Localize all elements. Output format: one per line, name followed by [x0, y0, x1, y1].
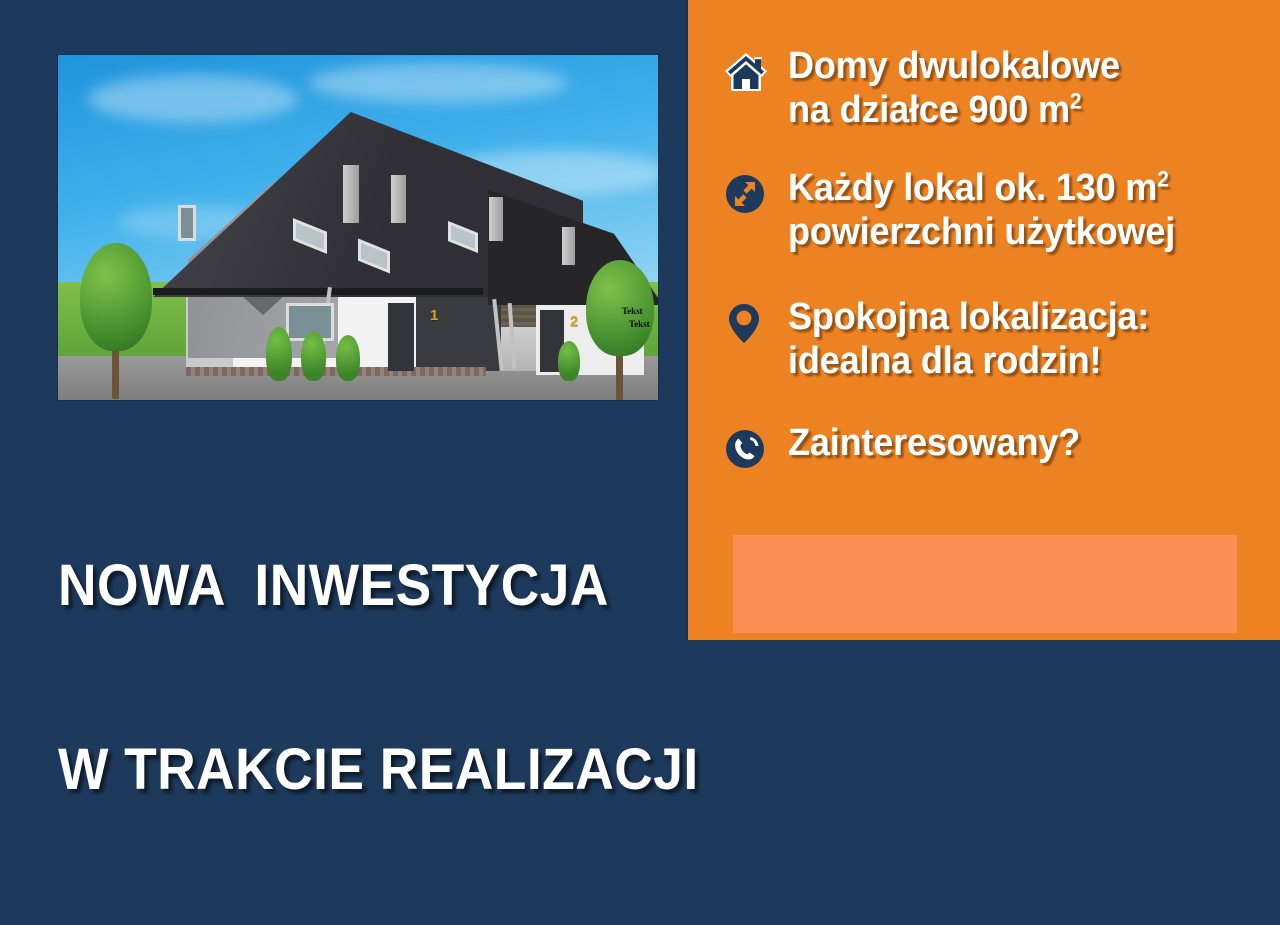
feature-text-homes: Domy dwulokalowe na działce 900 m2	[788, 44, 1238, 133]
chimney	[562, 227, 575, 265]
map-pin-icon	[722, 299, 770, 347]
shrub	[336, 335, 360, 381]
placeholder-note: Tekst Tekst	[622, 305, 650, 331]
gable-window	[178, 205, 196, 241]
placeholder-note-line1: Tekst	[622, 306, 643, 316]
chimney	[489, 197, 503, 241]
tree-crown	[80, 243, 152, 351]
feature-item-location: Spokojna lokalizacja: idealna dla rodzin…	[722, 295, 1262, 417]
feature-line-2: powierzchni użytkowej	[788, 211, 1175, 253]
roof-eave	[153, 288, 483, 295]
feature-text-location: Spokojna lokalizacja: idealna dla rodzin…	[788, 295, 1238, 384]
house-number-left: 1	[430, 307, 438, 324]
shrub	[266, 327, 292, 381]
cloud	[308, 63, 568, 103]
home-icon	[722, 48, 770, 96]
chimney	[391, 175, 406, 223]
superscript-2: 2	[1070, 89, 1081, 114]
right-panel: Domy dwulokalowe na działce 900 m2 Każdy…	[688, 0, 1280, 640]
headline-line-1: NOWA INWESTYCJA	[58, 555, 619, 616]
feature-line-1: Zainteresowany?	[788, 422, 1080, 464]
headline: NOWA INWESTYCJA W TRAKCIE REALIZACJI	[58, 432, 619, 924]
feature-line-1: Każdy lokal ok. 130 m	[788, 167, 1157, 209]
promo-banner: 1 2 Tekst Tekst NOWA INWESTYCJA W TRAKCI…	[0, 0, 1280, 640]
shrub	[301, 331, 326, 381]
entrance-door	[388, 303, 414, 371]
phone-icon	[722, 425, 770, 473]
chimney	[343, 165, 359, 223]
headline-line-2: W TRAKCIE REALIZACJI	[58, 739, 619, 800]
feature-item-homes: Domy dwulokalowe na działce 900 m2	[722, 44, 1262, 162]
feature-line-2: na działce 900 m	[788, 89, 1070, 131]
feature-line-1: Spokojna lokalizacja:	[788, 296, 1149, 338]
feature-item-contact: Zainteresowany?	[722, 421, 1262, 481]
house-number-right: 2	[570, 313, 578, 330]
house-rendering-photo: 1 2	[58, 55, 658, 400]
placeholder-note-line2: Tekst	[622, 318, 650, 331]
cloud	[88, 75, 298, 123]
feature-item-area: Każdy lokal ok. 130 m2 powierzchni użytk…	[722, 166, 1262, 291]
superscript-2: 2	[1157, 166, 1168, 191]
feature-text-area: Każdy lokal ok. 130 m2 powierzchni użytk…	[788, 166, 1238, 255]
feature-text-contact: Zainteresowany?	[788, 421, 1238, 465]
expand-arrows-icon	[722, 170, 770, 218]
left-panel: 1 2 Tekst Tekst NOWA INWESTYCJA W TRAKCI…	[0, 0, 688, 640]
contact-details-box[interactable]	[733, 535, 1237, 633]
feature-list: Domy dwulokalowe na działce 900 m2 Każdy…	[722, 44, 1262, 485]
shrub	[558, 341, 580, 381]
feature-line-2: idealna dla rodzin!	[788, 340, 1101, 382]
feature-line-1: Domy dwulokalowe	[788, 45, 1120, 87]
